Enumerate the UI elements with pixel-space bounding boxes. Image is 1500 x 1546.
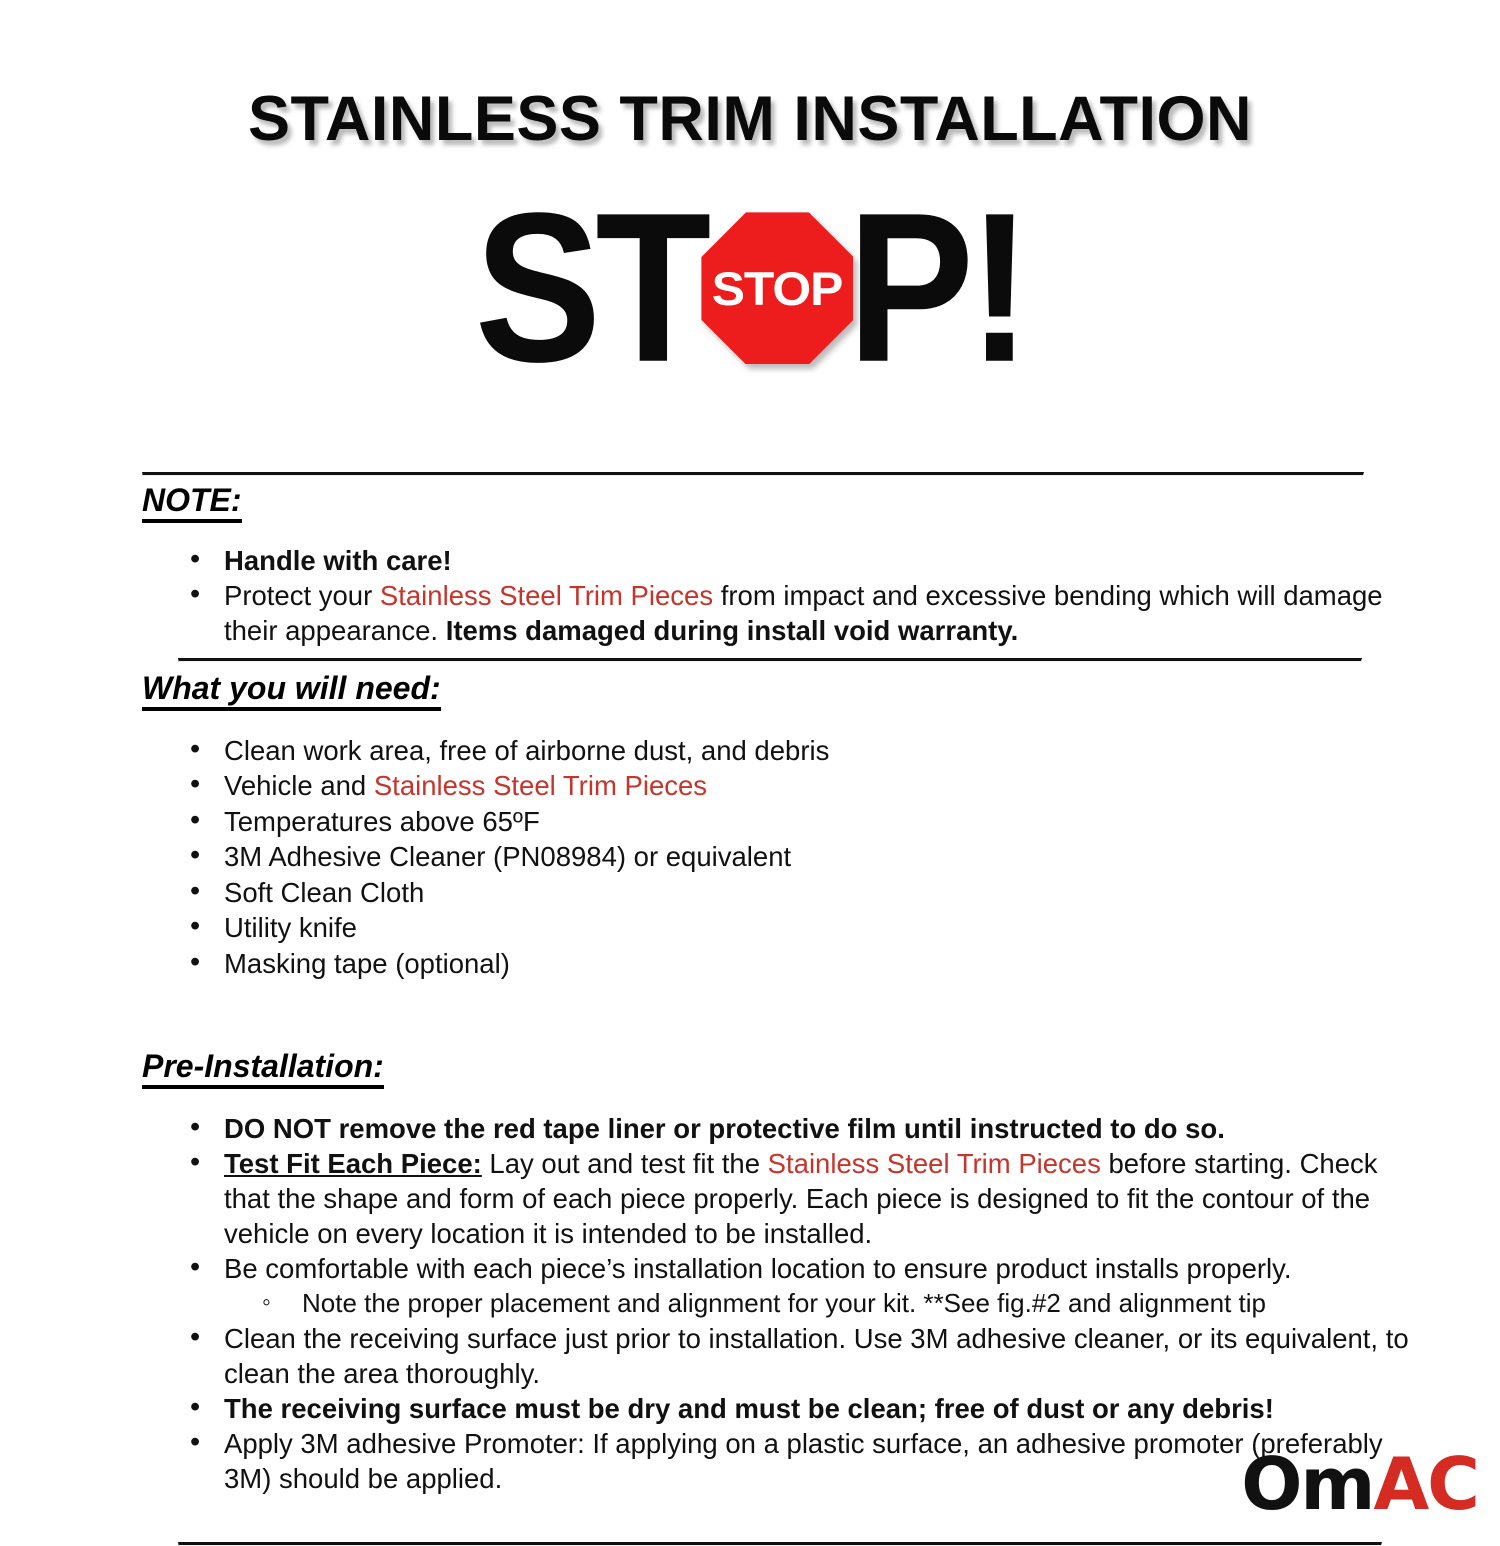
needs-section-heading: What you will need: (142, 672, 441, 711)
list-item: Temperatures above 65ºF (142, 804, 1392, 839)
omac-logo-red-text: AC (1373, 1442, 1478, 1526)
divider-note (178, 658, 1362, 662)
text-run: Protect your (224, 580, 380, 611)
note-section: NOTE: Handle with care!Protect your Stai… (142, 484, 1392, 648)
divider-bottom (178, 1542, 1382, 1546)
omac-logo: OmAC (1241, 1448, 1478, 1520)
list-item: Vehicle and Stainless Steel Trim Pieces (142, 768, 1392, 803)
divider-top (142, 472, 1364, 476)
list-item: Apply 3M adhesive Promoter: If applying … (142, 1426, 1422, 1496)
omac-logo-dark-text: Om (1241, 1442, 1373, 1526)
list-item: Note the proper placement and alignment … (142, 1286, 1422, 1321)
needs-bullet-list: Clean work area, free of airborne dust, … (142, 733, 1392, 981)
note-section-heading: NOTE: (142, 484, 242, 523)
text-run: Lay out and test fit the (482, 1148, 768, 1179)
text-run: DO NOT remove the red tape liner or prot… (224, 1113, 1225, 1144)
text-run: Handle with care! (224, 545, 452, 576)
text-run: Stainless Steel Trim Pieces (768, 1148, 1101, 1179)
list-item: Utility knife (142, 910, 1392, 945)
text-run: Be comfortable with each piece’s install… (224, 1253, 1291, 1284)
text-run: Note the proper placement and alignment … (302, 1288, 1266, 1318)
list-item: Clean work area, free of airborne dust, … (142, 733, 1392, 768)
stop-word-right: P! (847, 182, 1025, 395)
list-item: DO NOT remove the red tape liner or prot… (142, 1111, 1422, 1146)
text-run: Clean work area, free of airborne dust, … (224, 735, 829, 766)
preinstall-section-heading: Pre-Installation: (142, 1050, 384, 1089)
list-item: Test Fit Each Piece: Lay out and test fi… (142, 1146, 1422, 1251)
text-run: Clean the receiving surface just prior t… (224, 1323, 1409, 1389)
stop-graphic: ST STOP P! (0, 193, 1500, 383)
text-run: Masking tape (optional) (224, 948, 510, 979)
list-item: Clean the receiving surface just prior t… (142, 1321, 1422, 1391)
stop-sign-icon: STOP (701, 212, 853, 364)
text-run: Apply 3M adhesive Promoter: If applying … (224, 1428, 1383, 1494)
text-run: Test Fit Each Piece: (224, 1148, 482, 1179)
needs-section: What you will need: Clean work area, fre… (142, 672, 1392, 981)
text-run: 3M Adhesive Cleaner (PN08984) or equival… (224, 841, 791, 872)
list-item: Soft Clean Cloth (142, 875, 1392, 910)
stop-sign-label: STOP (697, 212, 858, 364)
preinstall-bullet-list: DO NOT remove the red tape liner or prot… (142, 1111, 1422, 1496)
text-run: Temperatures above 65ºF (224, 806, 540, 837)
text-run: Stainless Steel Trim Pieces (380, 580, 713, 611)
preinstall-section: Pre-Installation: DO NOT remove the red … (142, 1050, 1422, 1496)
list-item: 3M Adhesive Cleaner (PN08984) or equival… (142, 839, 1392, 874)
text-run: Vehicle and (224, 770, 374, 801)
list-item: Handle with care! (142, 543, 1392, 578)
page-title: STAINLESS TRIM INSTALLATION (0, 42, 1500, 151)
list-item: Protect your Stainless Steel Trim Pieces… (142, 578, 1392, 648)
list-item: Be comfortable with each piece’s install… (142, 1251, 1422, 1286)
text-run: Stainless Steel Trim Pieces (374, 770, 707, 801)
list-item: Masking tape (optional) (142, 946, 1392, 981)
stop-word-left: ST (475, 182, 706, 395)
list-item: The receiving surface must be dry and mu… (142, 1391, 1422, 1426)
text-run: Utility knife (224, 912, 357, 943)
note-bullet-list: Handle with care!Protect your Stainless … (142, 543, 1392, 648)
text-run: The receiving surface must be dry and mu… (224, 1393, 1274, 1424)
text-run: Soft Clean Cloth (224, 877, 424, 908)
text-run: Items damaged during install void warran… (446, 615, 1019, 646)
